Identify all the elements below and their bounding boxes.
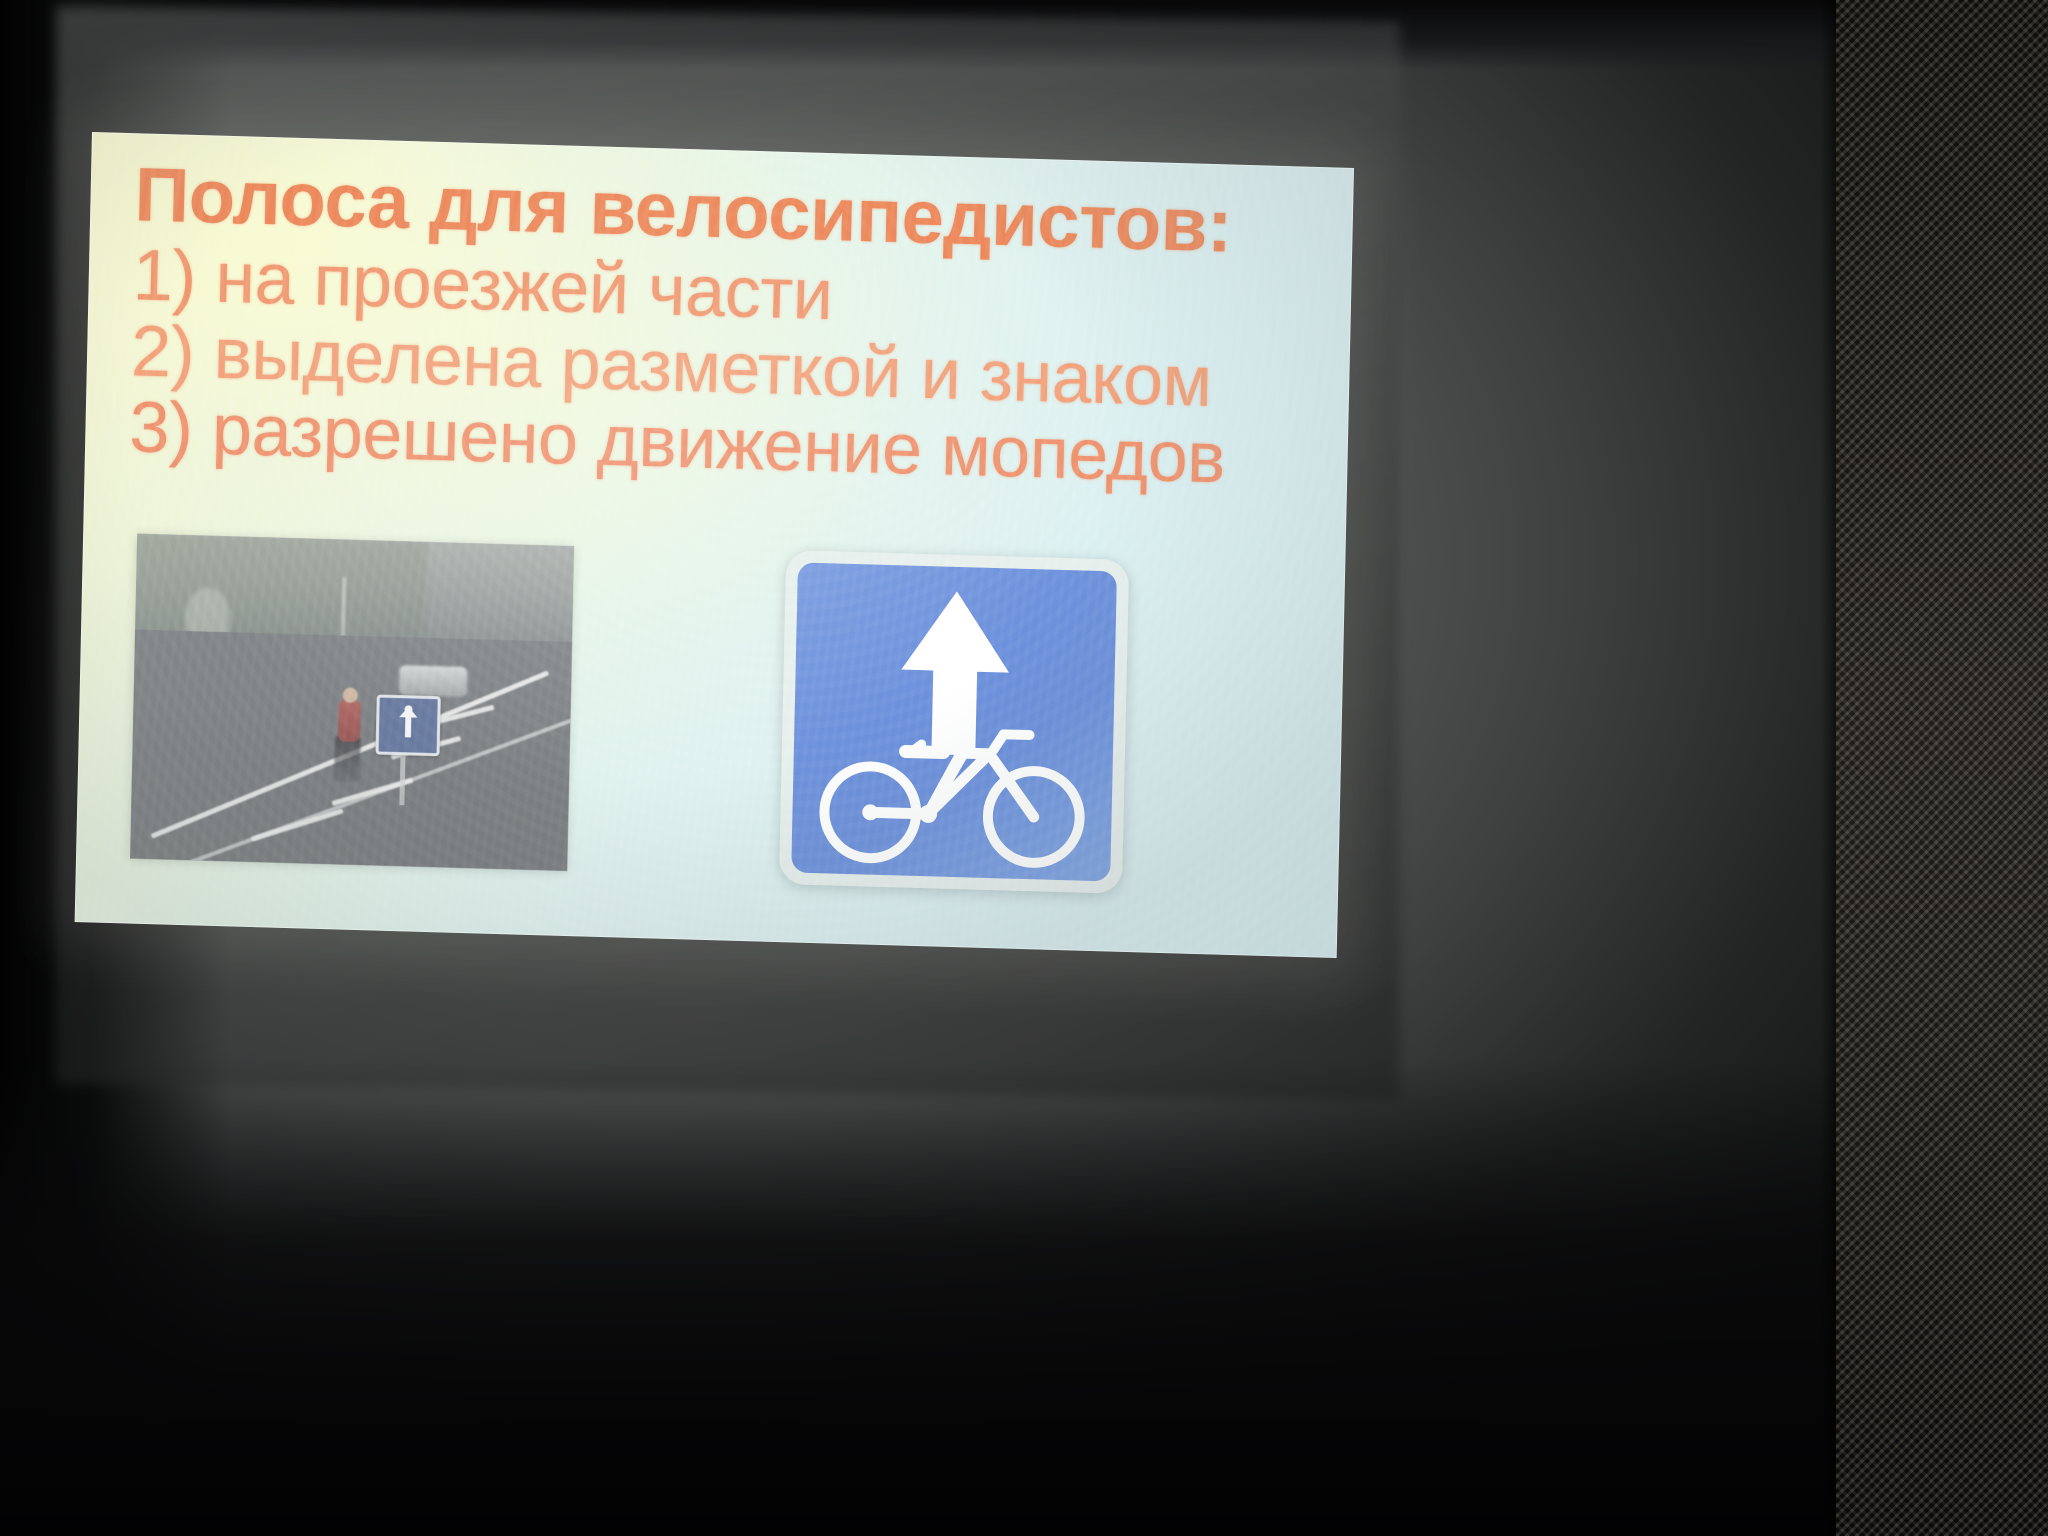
photo-cyclist-legs: [334, 735, 361, 782]
curtain-panel: [1836, 0, 2048, 1536]
wall-bottom-shadow: [0, 1060, 2048, 1536]
photo-sign-arrow-icon: [405, 715, 411, 737]
bicycle-with-arrow-icon: [791, 562, 1117, 881]
photo-cyclist-body: [338, 699, 361, 742]
room-background: Полоса для велосипедистов: 1) на проезже…: [0, 0, 2048, 1536]
photo-bicycle-lane-sign-icon: [375, 694, 440, 756]
photo-car: [399, 665, 468, 697]
bicycle-lane-sign-border: [779, 550, 1129, 894]
slide-surface: Полоса для велосипедистов: 1) на проезже…: [75, 132, 1354, 958]
bicycle-lane-sign: [791, 562, 1117, 881]
projected-slide: Полоса для велосипедистов: 1) на проезже…: [75, 132, 1354, 958]
slide-text-block: Полоса для велосипедистов: 1) на проезже…: [129, 157, 1346, 501]
road-photo: [130, 534, 574, 871]
